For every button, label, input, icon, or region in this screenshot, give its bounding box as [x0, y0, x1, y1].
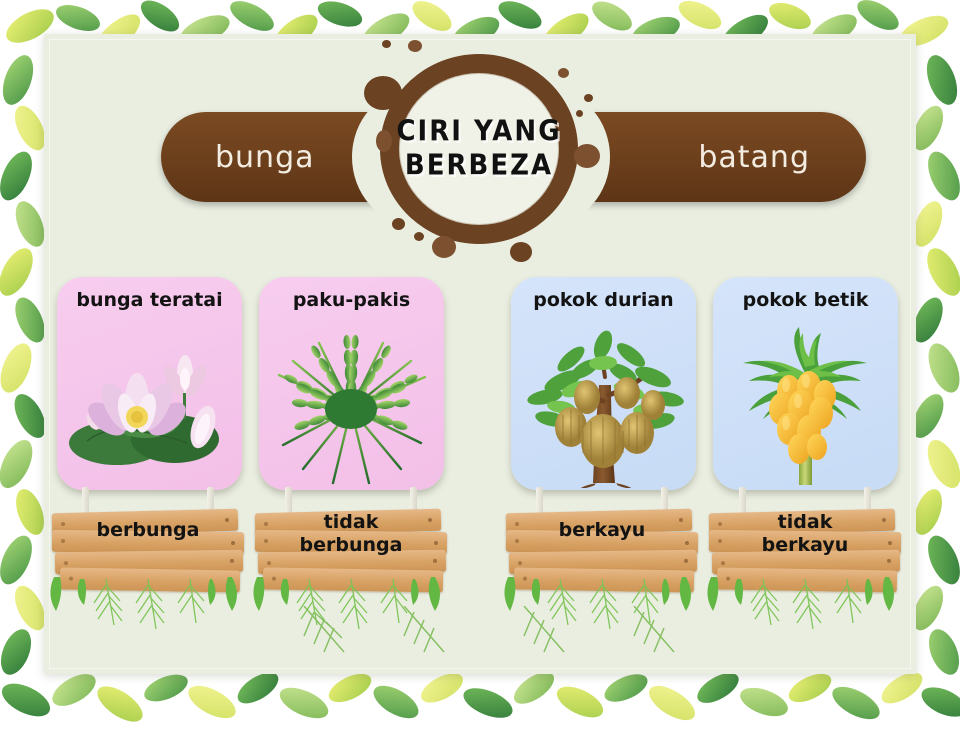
poster-title: CIRI YANG BERBEZA — [380, 54, 578, 244]
durian-tree-icon — [511, 323, 696, 486]
title-line-2: BERBEZA — [405, 150, 553, 182]
lotus-flower-icon — [57, 323, 242, 486]
card-pokok-durian[interactable]: pokok durian — [511, 277, 696, 490]
sign-label: berbunga — [52, 519, 244, 542]
stain-blob-icon — [584, 94, 593, 102]
sign-label-line-1: tidak — [255, 511, 447, 534]
card-label: bunga teratai — [57, 289, 242, 311]
sign-label: tidak berbunga — [255, 511, 447, 557]
stain-blob-icon — [510, 242, 532, 262]
sign-foliage-decor — [490, 577, 716, 647]
sign-label-line-1: tidak — [709, 511, 901, 534]
sign-tidak-berbunga[interactable]: tidak berbunga — [255, 505, 447, 587]
sign-foliage-decor — [239, 577, 465, 647]
sign-foliage-decor — [693, 577, 919, 647]
sign-label-line-2: berkayu — [709, 534, 901, 557]
poster-root: bunga batang CIRI YANG BERBEZA bunga ter… — [0, 0, 960, 729]
card-paku-pakis[interactable]: paku-pakis — [259, 277, 444, 490]
card-label: paku-pakis — [259, 289, 444, 311]
sign-berkayu[interactable]: berkayu — [506, 505, 698, 587]
sign-label: tidak berkayu — [709, 511, 901, 557]
papaya-tree-icon — [713, 323, 898, 486]
sign-label-line-2: berbunga — [255, 534, 447, 557]
card-label: pokok betik — [713, 289, 898, 311]
sign-berbunga[interactable]: berbunga — [52, 505, 244, 587]
banner-label-left: bunga — [215, 140, 315, 175]
card-bunga-teratai[interactable]: bunga teratai — [57, 277, 242, 490]
stain-blob-icon — [408, 40, 422, 52]
title-line-1: CIRI YANG — [396, 116, 561, 148]
sign-label-line-1: berbunga — [52, 519, 244, 542]
sign-label: berkayu — [506, 519, 698, 542]
fern-plant-icon — [259, 323, 444, 486]
stain-blob-icon — [382, 40, 391, 48]
sign-tidak-berkayu[interactable]: tidak berkayu — [709, 505, 901, 587]
card-pokok-betik[interactable]: pokok betik — [713, 277, 898, 490]
sign-foliage-decor — [36, 577, 262, 647]
coffee-stain-title-badge: CIRI YANG BERBEZA — [352, 32, 608, 264]
banner-label-right: batang — [698, 140, 810, 175]
sign-label-line-1: berkayu — [506, 519, 698, 542]
card-label: pokok durian — [511, 289, 696, 311]
